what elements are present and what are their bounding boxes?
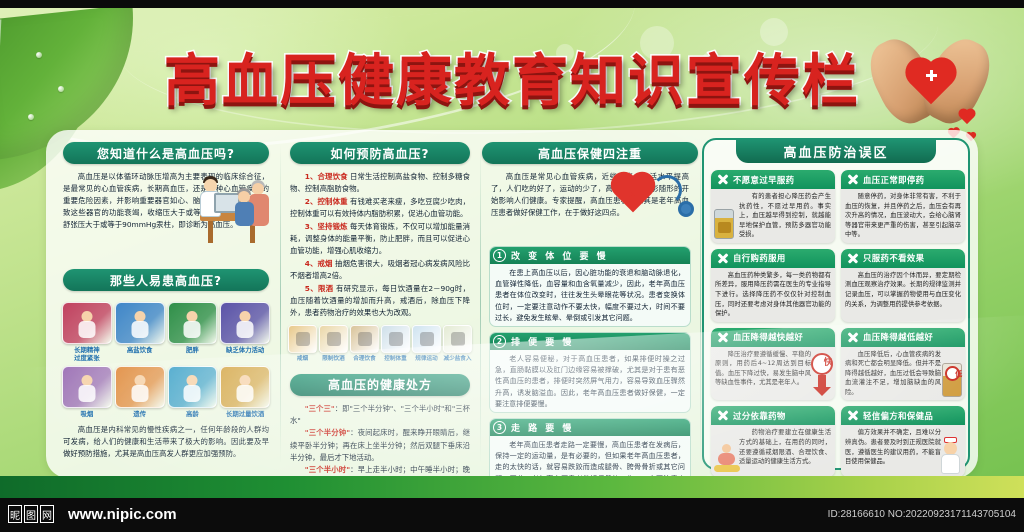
misconception-title: 血压降得越快越好 bbox=[733, 331, 803, 343]
x-icon bbox=[847, 410, 859, 422]
risk-factor-grid: 长期精神过度紧张高盐饮食肥胖缺乏体力活动吸烟遗传高龄长期过量饮酒 bbox=[54, 298, 278, 418]
risk-figure bbox=[232, 373, 258, 403]
caution-step-body: 老人容易便秘，对于高血压患者，如果排便时操之过急，直肠黏膜以及肛门边缘容易被撑破… bbox=[490, 350, 690, 412]
rx-intro-line: "三个三"：即"三个半分钟"、"三个半小时"和"三杯水" bbox=[290, 403, 470, 428]
risk-item: 长期过量饮酒 bbox=[220, 366, 270, 418]
logo-character: 昵 bbox=[8, 505, 22, 523]
risk-item: 遗传 bbox=[115, 366, 165, 418]
logo-character: 图 bbox=[24, 505, 38, 523]
rx-item-key: "三个半小时" bbox=[305, 465, 350, 474]
smoking-icon bbox=[62, 366, 112, 408]
misconceptions-box: 高血压防治误区 不愿意过早服药有的患者担心降压药会产生抗药性，不愿过早用药。事实… bbox=[702, 138, 970, 470]
misconception-card: 过分依靠药物药物治疗要建立在健康生活方式的基础上，在用药的同时，还要遵循戒烟限酒… bbox=[711, 406, 835, 477]
misconception-header: 自行购药服用 bbox=[711, 249, 835, 268]
misconception-card: 不愿意过早服药有的患者担心降压药会产生抗药性，不愿过早用药。事实上，血压越早得到… bbox=[711, 170, 835, 243]
prevention-icon-cell: 合理饮食 bbox=[350, 325, 379, 362]
risk-item: 长期精神过度紧张 bbox=[62, 302, 112, 362]
prevention-icon-cell: 控制体重 bbox=[381, 325, 410, 362]
heredity-icon bbox=[115, 366, 165, 408]
prevention-item-key: 1、合理饮食 bbox=[305, 172, 348, 181]
risk-figure bbox=[179, 373, 205, 403]
column-divider bbox=[480, 144, 481, 464]
x-icon bbox=[717, 174, 729, 186]
prevention-item-key: 3、坚持锻炼 bbox=[305, 222, 348, 231]
footer-bar: 昵图网 www.nipic.com ID:28166610 NO:2022092… bbox=[0, 498, 1024, 532]
x-icon bbox=[717, 252, 729, 264]
misconception-header: 过分依靠药物 bbox=[711, 406, 835, 425]
stethoscope-tube bbox=[652, 175, 682, 205]
caution-step-header: 2排 便 要 慢 bbox=[490, 333, 690, 350]
caution-step-number: 1 bbox=[493, 249, 506, 262]
caution-step-title: 改 变 体 位 要 慢 bbox=[511, 249, 608, 262]
obesity-scale-icon bbox=[168, 302, 218, 344]
misconception-card: 轻信偏方和保健品偏方效果并不确定，且难以分辨真伪。患者要及时到正规医院就医，遵循… bbox=[841, 406, 965, 477]
misconception-header: 血压降得越低越好 bbox=[841, 328, 965, 347]
prevention-icon-cell: 规律运动 bbox=[412, 325, 441, 362]
misconception-card: 血压降得越快越好降压治疗要遵循缓慢、平稳的原则，用药后4~12周达到目标值。血压… bbox=[711, 328, 835, 401]
risk-item: 高盐饮食 bbox=[115, 302, 165, 362]
heart-icon bbox=[615, 176, 652, 213]
prevention-item-key: 2、控制体重 bbox=[305, 197, 348, 206]
misconception-title: 自行购药服用 bbox=[733, 252, 786, 264]
site-url: www.nipic.com bbox=[68, 506, 177, 523]
misconception-body: 降压治疗要遵循缓慢、平稳的原则，用药后4~12周达到目标值。血压下降过快，易发生… bbox=[711, 347, 835, 399]
desk-leg bbox=[208, 221, 213, 243]
prevention-item: 5、限酒 有研究显示，每日饮酒量在2－90g时，血压随着饮酒量的增加而升高，戒酒… bbox=[290, 283, 470, 319]
prevention-item-key: 4、戒烟 bbox=[305, 259, 333, 268]
misconception-body: 高血压药种类繁多，每一类药物都有所差异，服用降压药需在医生的专业指导下进行。选择… bbox=[711, 268, 835, 322]
risk-item-label: 肥胖 bbox=[168, 346, 218, 354]
nurse-icon bbox=[939, 437, 963, 475]
section-title-four-cautions: 高血压保健四注重 bbox=[482, 142, 698, 164]
risk-figure bbox=[179, 309, 205, 339]
caution-step-number: 2 bbox=[493, 335, 506, 348]
prevention-icon-label: 规律运动 bbox=[412, 354, 441, 362]
x-icon bbox=[847, 174, 859, 186]
x-icon bbox=[717, 410, 729, 422]
risk-figure bbox=[232, 309, 258, 339]
weight-control-icon bbox=[381, 325, 410, 353]
drinking-icon bbox=[220, 366, 270, 408]
rx-item-key: "三个半分钟" bbox=[305, 428, 350, 437]
risk-item: 肥胖 bbox=[168, 302, 218, 362]
section-title-who-is-at-risk: 那些人易患高血压? bbox=[63, 269, 269, 291]
prevention-icon-label: 戒烟 bbox=[288, 354, 317, 362]
prevention-list: 1、合理饮食 日常生活控制高盐食物、控制多糖食物、控制高脂肪食物。2、控制体重 … bbox=[282, 171, 478, 319]
misconception-title: 血压正常即停药 bbox=[863, 174, 924, 186]
column-divider bbox=[280, 144, 281, 464]
caution-step-title: 排 便 要 慢 bbox=[511, 335, 574, 348]
nipic-logo: 昵图网 bbox=[8, 505, 54, 523]
prevention-item: 1、合理饮食 日常生活控制高盐食物、控制多糖食物、控制高脂肪食物。 bbox=[290, 171, 470, 195]
risk-item-label: 吸烟 bbox=[62, 410, 112, 418]
prevention-icon-label: 合理饮食 bbox=[350, 354, 379, 362]
misconception-card: 血压降得越低越好血压降低后，心血管疾病的发病和死亡都会明显降低。但并不是降得越低… bbox=[841, 328, 965, 401]
rx-intro-text: ：即"三个半分钟"、"三个半小时"和"三杯水" bbox=[290, 404, 470, 425]
prevention-icon-cell: 限制饮酒 bbox=[319, 325, 348, 362]
cross-bar-v bbox=[930, 70, 933, 81]
risk-item-label: 长期精神过度紧张 bbox=[62, 346, 112, 362]
misconception-card: 血压正常即停药随意停药，对身体非常有害，不利于血压的恢复，并且停药之后，血压会有… bbox=[841, 170, 965, 243]
dew-drop bbox=[28, 114, 34, 120]
misconception-body: 有的患者担心降压药会产生抗药性，不愿过早用药。事实上，血压越早得到控制，就越能早… bbox=[711, 189, 835, 243]
misconception-header: 血压正常即停药 bbox=[841, 170, 965, 189]
poster-root: 高血压健康教育知识宣传栏 您知道什么是高血压吗? bbox=[0, 0, 1024, 532]
misconception-title: 过分依靠药物 bbox=[733, 410, 786, 422]
exercise-icon bbox=[412, 325, 441, 353]
prevention-icon-label: 限制饮酒 bbox=[319, 354, 348, 362]
risk-item-label: 高龄 bbox=[168, 410, 218, 418]
prevention-item: 3、坚持锻炼 每天体育锻炼，不仅可以增加能量消耗，调整身体的能量平衡，防止肥胖，… bbox=[290, 221, 470, 257]
elderly-icon bbox=[168, 366, 218, 408]
caution-step-header: 1改 变 体 位 要 慢 bbox=[490, 247, 690, 264]
misconception-title: 血压降得越低越好 bbox=[863, 331, 933, 343]
caution-step-body: 在患上高血压以后，因心脏功能的衰退和脑动脉退化，血管弹性降低，血容量和血含氧量减… bbox=[490, 264, 690, 326]
prevention-icon-label: 控制体重 bbox=[381, 354, 410, 362]
risk-figure bbox=[74, 309, 100, 339]
misconception-header: 只服药不看效果 bbox=[841, 249, 965, 268]
misconception-title: 不愿意过早服药 bbox=[733, 174, 794, 186]
column-divider bbox=[700, 144, 701, 464]
section-title-prescription: 高血压的健康处方 bbox=[290, 374, 470, 396]
risk-item-label: 高盐饮食 bbox=[115, 346, 165, 354]
patient-body bbox=[235, 202, 254, 226]
heart-small-icon bbox=[960, 110, 974, 124]
misconception-title: 轻信偏方和保健品 bbox=[863, 410, 933, 422]
misconception-body: 高血压的治疗因个体而异，要定期检测血压观察治疗效果。长期的规律监测并记录血压，可… bbox=[841, 268, 965, 320]
misconception-card: 自行购药服用高血压药种类繁多，每一类药物都有所差异，服用降压药需在医生的专业指导… bbox=[711, 249, 835, 322]
caution-step-title: 走 路 要 慢 bbox=[511, 421, 574, 434]
caution-step-header: 3走 路 要 慢 bbox=[490, 419, 690, 436]
reduce-salt-icon bbox=[443, 325, 472, 353]
risk-item: 吸烟 bbox=[62, 366, 112, 418]
misconception-grid: 不愿意过早服药有的患者担心降压药会产生抗药性，不愿过早用药。事实上，血压越早得到… bbox=[711, 170, 965, 477]
misconception-title: 只服药不看效果 bbox=[863, 252, 924, 264]
page-title: 高血压健康教育知识宣传栏 bbox=[164, 54, 860, 110]
rx-item: "三个半分钟"：夜间起床时，醒来睁开眼睛后，继续平卧半分钟；再在床上坐半分钟；然… bbox=[290, 427, 470, 464]
misconception-header: 不愿意过早服药 bbox=[711, 170, 835, 189]
misconception-body: 偏方效果并不确定，且难以分辨真伪。患者要及时到正规医院就医，遵循医生的建议用药，… bbox=[841, 425, 965, 477]
column-what-is-hypertension: 您知道什么是高血压吗? bbox=[54, 130, 278, 460]
stressed-man-icon bbox=[62, 302, 112, 344]
column-prevention: 如何预防高血压? 1、合理饮食 日常生活控制高盐食物、控制多糖食物、控制高脂肪食… bbox=[282, 130, 478, 498]
column-four-cautions: 高血压保健四注重 高血压是常见心血管疾病，近些年来，生活水平提高了，人们吃的好了… bbox=[482, 130, 698, 498]
poster-board: 高血压健康教育知识宣传栏 您知道什么是高血压吗? bbox=[0, 8, 1024, 498]
pill-bottle-icon bbox=[714, 209, 734, 239]
x-icon bbox=[847, 331, 859, 343]
risk-figure bbox=[127, 373, 153, 403]
x-icon bbox=[717, 331, 729, 343]
risk-figure bbox=[74, 373, 100, 403]
bokeh-circle bbox=[760, 18, 788, 46]
inactivity-icon bbox=[220, 302, 270, 344]
logo-character: 网 bbox=[40, 505, 54, 523]
image-id-label: ID:28166610 NO:20220923171143705104 bbox=[828, 509, 1016, 520]
healthy-diet-icon bbox=[350, 325, 379, 353]
no-smoking-icon bbox=[288, 325, 317, 353]
stethoscope-heart-icon bbox=[618, 169, 696, 231]
prevention-icon-strip: 戒烟限制饮酒合理饮食控制体重规律运动减少盐食入 bbox=[282, 320, 478, 362]
prevention-item: 2、控制体重 有钱难买老来瘦，多吃豆腐少吃肉，控制体重可以有效持体内脂肪积累，促… bbox=[290, 196, 470, 220]
risk-item: 高龄 bbox=[168, 366, 218, 418]
fast-down-arrow-icon: 快 bbox=[811, 353, 833, 397]
section-title-prevention: 如何预防高血压? bbox=[290, 142, 470, 164]
caution-step: 1改 变 体 位 要 慢在患上高血压以后，因心脏功能的衰退和脑动脉退化，血管弹性… bbox=[489, 246, 691, 327]
prevention-item: 4、戒烟 抽烟危害很大，吸烟者冠心病发病风险比不烟者增高2倍。 bbox=[290, 258, 470, 282]
risk-item-label: 长期过量饮酒 bbox=[220, 410, 270, 418]
hands-heart-icon bbox=[870, 34, 990, 130]
misconception-body: 血压降低后，心血管疾病的发病和死亡都会明显降低。但并不是降得越低越好，血压过低会… bbox=[841, 347, 965, 401]
limit-alcohol-icon bbox=[319, 325, 348, 353]
misconception-header: 轻信偏方和保健品 bbox=[841, 406, 965, 425]
stethoscope-bell bbox=[678, 201, 694, 217]
x-icon bbox=[847, 252, 859, 264]
doctor-patients-illustration bbox=[188, 167, 274, 251]
risk-item-label: 缺乏体力活动 bbox=[220, 346, 270, 354]
risk-item: 缺乏体力活动 bbox=[220, 302, 270, 362]
salt-spoon-icon bbox=[115, 302, 165, 344]
footer-green-strip bbox=[0, 476, 1024, 498]
rx-intro-key: "三个三" bbox=[305, 404, 335, 413]
rx-item-text: ：夜间起床时，醒来睁开眼睛后，继续平卧半分钟；再在床上坐半分钟；然后双腿下垂床沿… bbox=[290, 428, 470, 462]
what-is-intro-wrap: 高血压是以体循环动脉压增高为主要表现的临床综合征，是最常见的心血管疾病，长期高血… bbox=[54, 171, 278, 257]
yoga-icon bbox=[714, 444, 740, 474]
section-title-what-is: 您知道什么是高血压吗? bbox=[63, 142, 269, 164]
misconception-card: 只服药不看效果高血压的治疗因个体而异，要定期检测血压观察治疗效果。长期的规律监测… bbox=[841, 249, 965, 322]
four-cautions-intro-wrap: 高血压是常见心血管疾病，近些年来，生活水平提高了，人们吃的好了，运动的少了，高血… bbox=[482, 171, 698, 241]
misconception-header: 血压降得越快越好 bbox=[711, 328, 835, 347]
content-panel: 您知道什么是高血压吗? bbox=[46, 130, 978, 478]
low-pill-icon: 低 bbox=[942, 363, 962, 397]
misconception-body: 药物治疗要建立在健康生活方式的基础上，在用药的同时，还要遵循戒烟限酒、合理饮食、… bbox=[711, 425, 835, 477]
prevention-icon-cell: 戒烟 bbox=[288, 325, 317, 362]
prevention-icon-label: 减少盐食入 bbox=[443, 354, 472, 362]
misconception-body: 随意停药，对身体非常有害，不利于血压的恢复，并且停药之后，血压会有再次升高的情况… bbox=[841, 189, 965, 243]
risk-figure bbox=[127, 309, 153, 339]
prevention-item-key: 5、限酒 bbox=[305, 284, 334, 293]
risk-closing-body: 高血压是内科常见的慢性疾病之一，任何年龄段的人群均可发病，给人们的健康和生活带来… bbox=[54, 424, 278, 460]
section-title-misconceptions: 高血压防治误区 bbox=[736, 139, 936, 163]
four-cautions-steps: 1改 变 体 位 要 慢在患上高血压以后，因心脏功能的衰退和脑动脉退化，血管弹性… bbox=[482, 246, 698, 498]
risk-item-label: 遗传 bbox=[115, 410, 165, 418]
caution-step: 2排 便 要 慢老人容易便秘，对于高血压患者，如果排便时操之过急，直肠黏膜以及肛… bbox=[489, 332, 691, 413]
caution-step-number: 3 bbox=[493, 421, 506, 434]
prevention-icon-cell: 减少盐食入 bbox=[443, 325, 472, 362]
